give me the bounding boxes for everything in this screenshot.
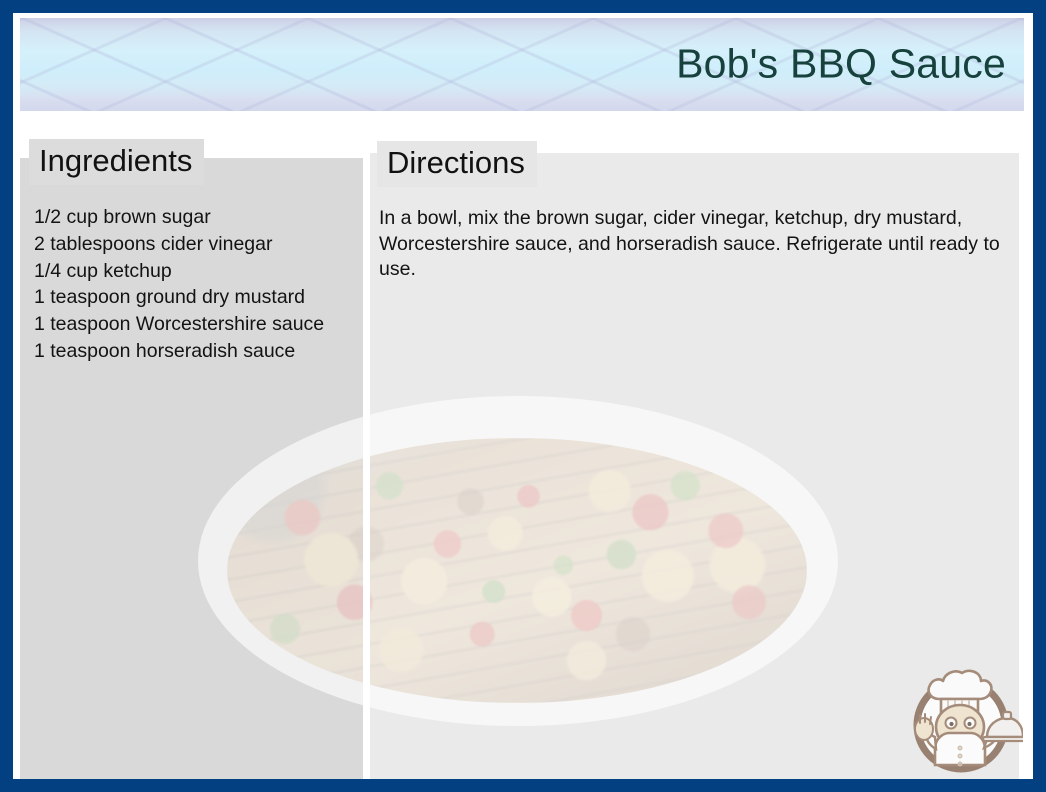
list-item: 1/4 cup ketchup <box>34 258 364 285</box>
recipe-slide: Bob's BBQ Sauce Ingredients Directions 1… <box>0 0 1046 792</box>
list-item: 1/2 cup brown sugar <box>34 204 364 231</box>
page-title: Bob's BBQ Sauce <box>676 40 1006 87</box>
slide-canvas: Bob's BBQ Sauce Ingredients Directions 1… <box>13 13 1033 779</box>
list-item: 1 teaspoon horseradish sauce <box>34 338 364 365</box>
grilled-kebabs-photo <box>227 438 807 703</box>
list-item: 2 tablespoons cider vinegar <box>34 231 364 258</box>
list-item: 1 teaspoon ground dry mustard <box>34 284 364 311</box>
photo-overlay <box>227 438 807 703</box>
directions-text: In a bowl, mix the brown sugar, cider vi… <box>379 206 1030 283</box>
chef-logo <box>899 653 1023 777</box>
list-item: 1 teaspoon Worcestershire sauce <box>34 311 364 338</box>
header-banner: Bob's BBQ Sauce <box>20 18 1024 111</box>
directions-heading: Directions <box>377 141 537 187</box>
ingredients-heading: Ingredients <box>29 139 204 185</box>
column-divider <box>363 153 370 779</box>
ingredients-list: 1/2 cup brown sugar 2 tablespoons cider … <box>34 204 364 365</box>
